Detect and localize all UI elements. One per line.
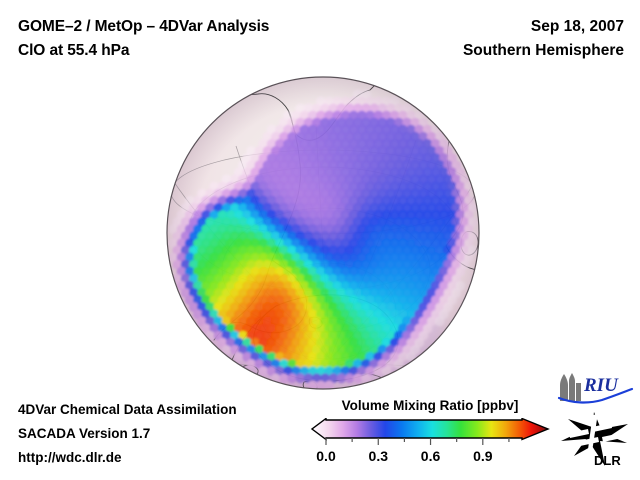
colorbar-tick-label-0: 0.0 <box>316 448 335 464</box>
riu-tower-icon <box>560 373 581 401</box>
footer-line-version: SACADA Version 1.7 <box>18 426 150 441</box>
hemisphere-label: Southern Hemisphere <box>463 42 624 60</box>
sacada-clo-analysis-figure: GOME–2 / MetOp – 4DVar Analysis ClO at 5… <box>0 0 640 480</box>
dlr-wordmark: DLR <box>594 453 621 467</box>
colorbar-tick-label-1: 0.3 <box>369 448 388 464</box>
riu-logo: RIU <box>556 371 634 405</box>
orthographic-globe-svg <box>158 74 488 392</box>
date-label: Sep 18, 2007 <box>531 18 624 36</box>
colorbar: Volume Mixing Ratio [ppbv] 0.0 0.3 0.6 0… <box>310 398 550 474</box>
footer-line-url: http://wdc.dlr.de <box>18 450 122 465</box>
colorbar-ticks <box>326 438 509 445</box>
figure-title: GOME–2 / MetOp – 4DVar Analysis <box>18 18 269 36</box>
colorbar-title: Volume Mixing Ratio [ppbv] <box>310 398 550 413</box>
species-level-label: ClO at 55.4 hPa <box>18 42 129 60</box>
limb-shading <box>167 77 479 389</box>
riu-wordmark: RIU <box>583 375 619 396</box>
colorbar-tick-label-2: 0.6 <box>421 448 440 464</box>
colorbar-swatch <box>312 419 548 440</box>
colorbar-tick-label-3: 0.9 <box>473 448 492 464</box>
globe-map <box>158 74 488 392</box>
colorbar-svg <box>310 418 550 448</box>
dlr-logo: DLR <box>558 411 632 467</box>
footer-line-assimilation: 4DVar Chemical Data Assimilation <box>18 402 237 417</box>
